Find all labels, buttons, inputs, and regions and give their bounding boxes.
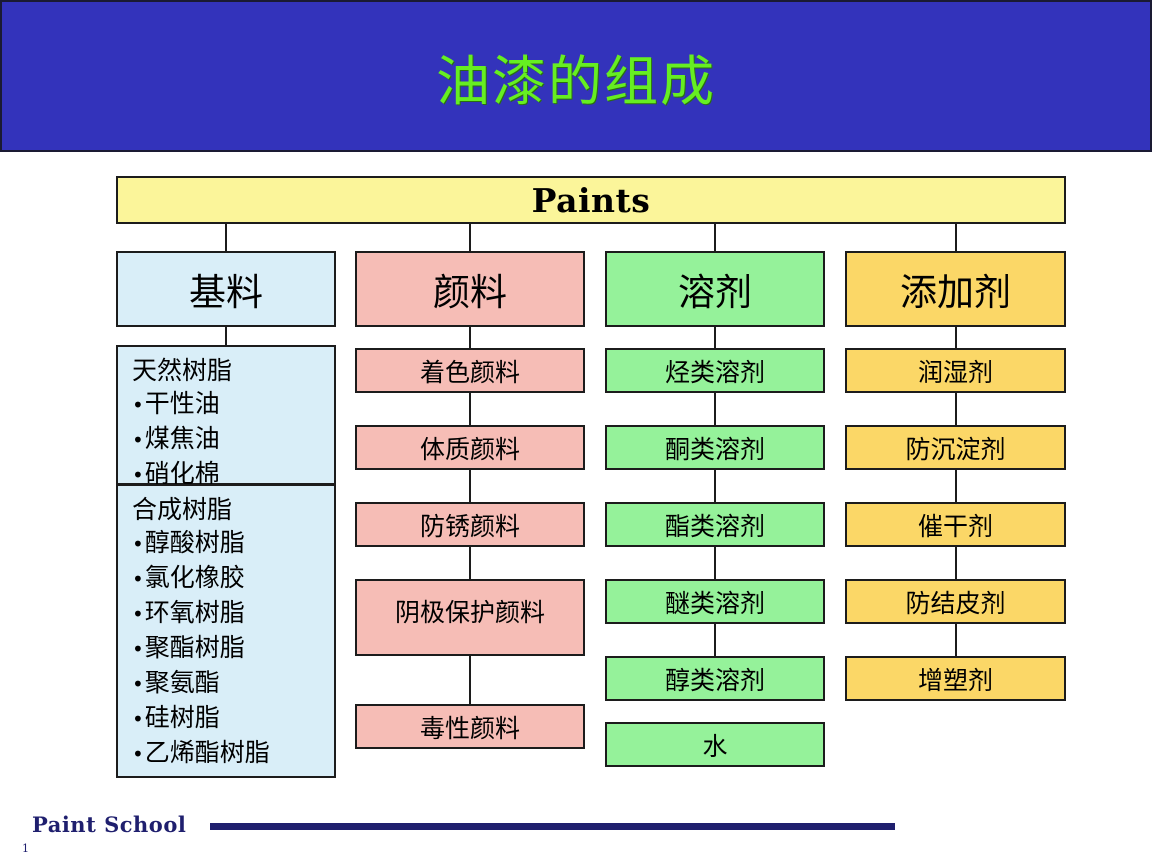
node-label: 毒性颜料 <box>420 709 520 745</box>
diagram-leaf-pigment-4: 毒性颜料 <box>355 704 585 749</box>
connector-pigment-0-1 <box>469 393 471 425</box>
diagram-leaf-pigment-2: 防锈颜料 <box>355 502 585 547</box>
node-label: 催干剂 <box>918 507 993 543</box>
node-label: 溶剂 <box>678 262 752 316</box>
diagram-node-category-binder: 基料 <box>116 251 336 327</box>
diagram-leaf-additive-3: 防结皮剂 <box>845 579 1066 624</box>
diagram-group-natural-resin: 天然树脂 干性油 煤焦油 硝化棉 <box>116 345 336 485</box>
group-title: 天然树脂 <box>132 354 334 387</box>
connector-column-3-head-to-leaf-0 <box>955 327 957 348</box>
paint-composition-diagram: Paints 基料 颜料 溶剂 添加剂 天然树脂 干性油 煤焦油 硝化棉 合成树… <box>0 0 1152 864</box>
connector-column-2-head-to-leaf-0 <box>714 327 716 348</box>
node-label: 增塑剂 <box>918 661 993 697</box>
diagram-leaf-additive-0: 润湿剂 <box>845 348 1066 393</box>
group-title: 合成树脂 <box>132 493 334 526</box>
diagram-node-category-additive: 添加剂 <box>845 251 1066 327</box>
diagram-leaf-additive-1: 防沉淀剂 <box>845 425 1066 470</box>
diagram-leaf-additive-2: 催干剂 <box>845 502 1066 547</box>
list-item: 硅树脂 <box>132 701 334 736</box>
diagram-leaf-additive-4: 增塑剂 <box>845 656 1066 701</box>
connector-additive-1-2 <box>955 470 957 502</box>
connector-pigment-2-3 <box>469 547 471 579</box>
connector-root-to-column-1 <box>469 224 471 251</box>
node-label: 醚类溶剂 <box>665 584 765 620</box>
node-label: 烃类溶剂 <box>665 353 765 389</box>
group-item-list: 干性油 煤焦油 硝化棉 <box>132 387 334 492</box>
diagram-node-category-solvent: 溶剂 <box>605 251 825 327</box>
node-label: 防结皮剂 <box>905 584 1005 620</box>
group-item-list: 醇酸树脂 氯化橡胶 环氧树脂 聚酯树脂 聚氨酯 硅树脂 乙烯酯树脂 <box>132 526 334 771</box>
diagram-leaf-solvent-0: 烃类溶剂 <box>605 348 825 393</box>
connector-solvent-0-1 <box>714 393 716 425</box>
diagram-leaf-solvent-3: 醚类溶剂 <box>605 579 825 624</box>
connector-additive-2-3 <box>955 547 957 579</box>
list-item: 乙烯酯树脂 <box>132 736 334 771</box>
node-label: Paints <box>532 181 651 220</box>
connector-column-0-head-to-list <box>225 327 227 345</box>
list-item: 氯化橡胶 <box>132 561 334 596</box>
node-label: 酮类溶剂 <box>665 430 765 466</box>
diagram-leaf-solvent-2: 酯类溶剂 <box>605 502 825 547</box>
diagram-leaf-solvent-1: 酮类溶剂 <box>605 425 825 470</box>
node-label: 颜料 <box>433 262 507 316</box>
connector-additive-0-1 <box>955 393 957 425</box>
node-label: 添加剂 <box>900 262 1011 316</box>
connector-solvent-2-3 <box>714 547 716 579</box>
list-item: 煤焦油 <box>132 422 334 457</box>
connector-column-1-head-to-leaf-0 <box>469 327 471 348</box>
diagram-node-category-pigment: 颜料 <box>355 251 585 327</box>
list-item: 环氧树脂 <box>132 596 334 631</box>
connector-pigment-3-4 <box>469 656 471 704</box>
node-label: 酯类溶剂 <box>665 507 765 543</box>
node-label: 醇类溶剂 <box>665 661 765 697</box>
diagram-leaf-pigment-0: 着色颜料 <box>355 348 585 393</box>
list-item: 聚酯树脂 <box>132 631 334 666</box>
node-label: 阴极保护颜料 <box>395 593 545 629</box>
footer-brand-label: Paint School <box>32 812 186 837</box>
node-label: 着色颜料 <box>420 353 520 389</box>
diagram-leaf-pigment-3: 阴极保护颜料 <box>355 579 585 656</box>
connector-root-to-column-3 <box>955 224 957 251</box>
diagram-leaf-pigment-1: 体质颜料 <box>355 425 585 470</box>
node-label: 基料 <box>189 262 263 316</box>
diagram-group-synthetic-resin: 合成树脂 醇酸树脂 氯化橡胶 环氧树脂 聚酯树脂 聚氨酯 硅树脂 乙烯酯树脂 <box>116 484 336 778</box>
list-item: 干性油 <box>132 387 334 422</box>
connector-additive-3-4 <box>955 624 957 656</box>
list-item: 聚氨酯 <box>132 666 334 701</box>
footer-divider <box>210 823 895 830</box>
connector-solvent-3-4 <box>714 624 716 656</box>
connector-pigment-1-2 <box>469 470 471 502</box>
connector-solvent-1-2 <box>714 470 716 502</box>
node-label: 防沉淀剂 <box>905 430 1005 466</box>
list-item: 醇酸树脂 <box>132 526 334 561</box>
node-label: 水 <box>702 727 727 763</box>
page-number: 1 <box>22 842 29 855</box>
diagram-node-root: Paints <box>116 176 1066 224</box>
diagram-leaf-solvent-4: 醇类溶剂 <box>605 656 825 701</box>
connector-root-to-column-0 <box>225 224 227 251</box>
node-label: 体质颜料 <box>420 430 520 466</box>
node-label: 防锈颜料 <box>420 507 520 543</box>
diagram-leaf-solvent-5: 水 <box>605 722 825 767</box>
node-label: 润湿剂 <box>918 353 993 389</box>
connector-root-to-column-2 <box>714 224 716 251</box>
